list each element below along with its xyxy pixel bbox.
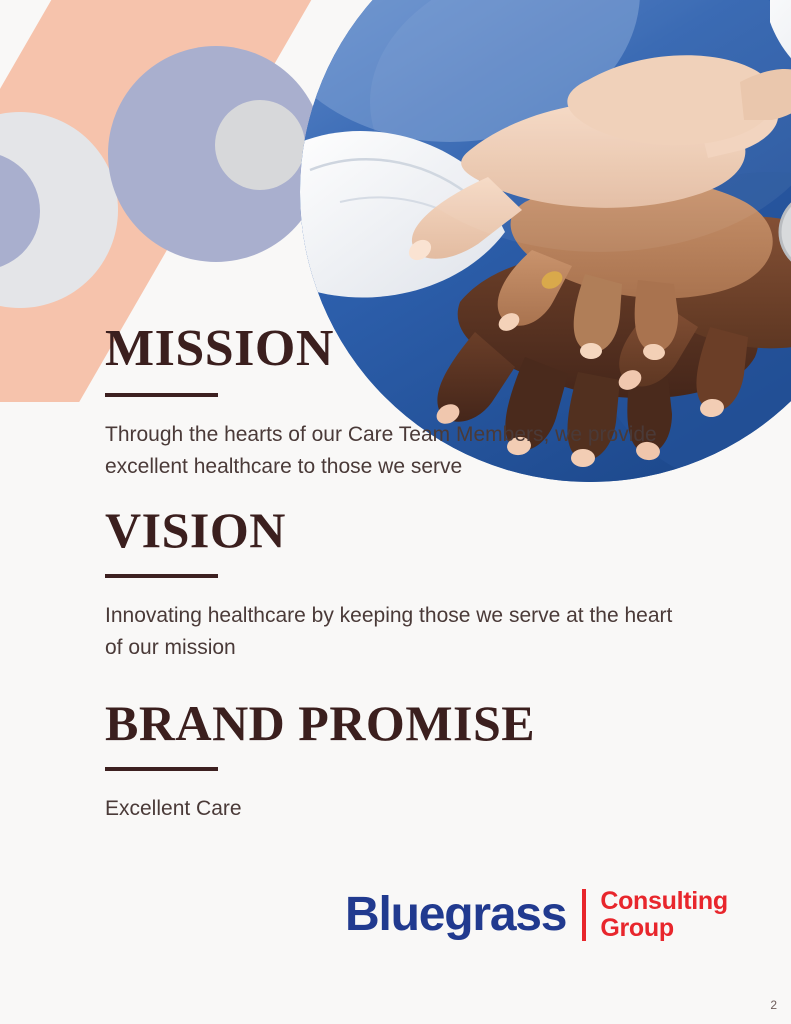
gray-inner-dot-shape	[215, 100, 305, 190]
brand-promise-body: Excellent Care	[105, 793, 680, 825]
section-vision: VISION Innovating healthcare by keeping …	[105, 505, 705, 664]
logo-subtext-line1: Consulting	[600, 887, 728, 915]
page-number: 2	[770, 998, 777, 1012]
slide-page: MISSION Through the hearts of our Care T…	[0, 0, 791, 1024]
mission-rule	[105, 393, 218, 397]
section-brand-promise: BRAND PROMISE Excellent Care	[105, 698, 705, 825]
logo-subtext-line2: Group	[600, 914, 674, 942]
content-column: MISSION Through the hearts of our Care T…	[105, 322, 705, 825]
bluegrass-logo: Bluegrass Consulting Group	[345, 884, 728, 946]
brand-promise-heading: BRAND PROMISE	[105, 698, 705, 749]
brand-promise-rule	[105, 767, 218, 771]
logo-divider	[582, 889, 586, 941]
vision-body: Innovating healthcare by keeping those w…	[105, 600, 680, 664]
logo-subtext: Consulting Group	[600, 888, 728, 942]
section-mission: MISSION Through the hearts of our Care T…	[105, 322, 705, 483]
mission-heading: MISSION	[105, 322, 705, 375]
logo-wordmark: Bluegrass	[345, 891, 566, 939]
vision-heading: VISION	[105, 505, 705, 556]
mission-body: Through the hearts of our Care Team Memb…	[105, 419, 680, 483]
vision-rule	[105, 574, 218, 578]
spacer-vision-brand	[105, 664, 705, 698]
